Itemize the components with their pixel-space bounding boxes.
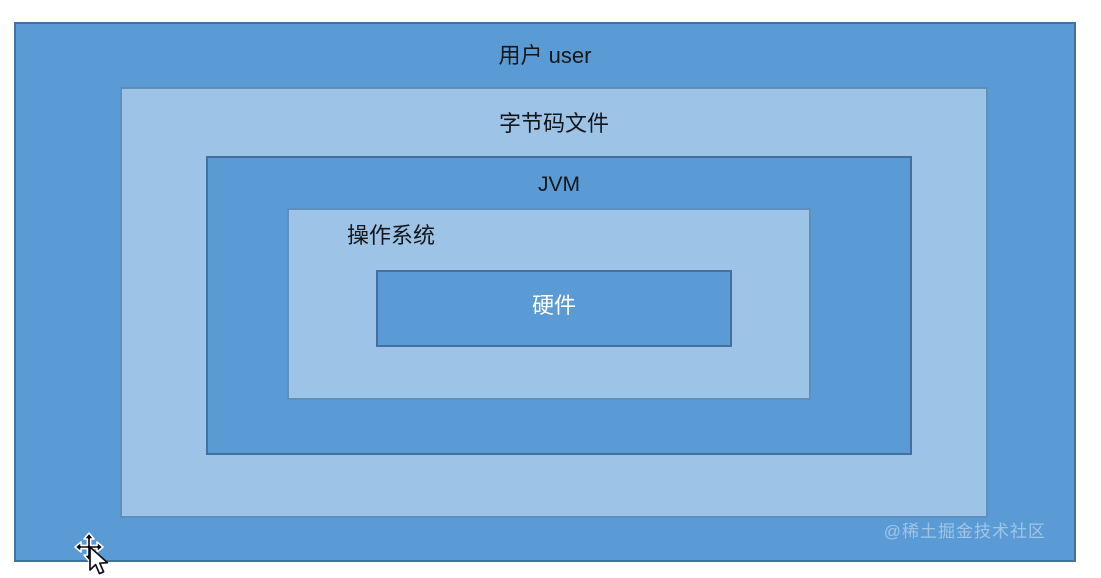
layer-label-os: 操作系统 (289, 224, 809, 248)
diagram-canvas: 用户 user 字节码文件 JVM 操作系统 硬件 @稀土掘金技术社区 (0, 0, 1101, 578)
layer-label-user: 用户 user (16, 44, 1074, 68)
layer-label-jvm: JVM (208, 173, 910, 196)
watermark-text: @稀土掘金技术社区 (884, 517, 1046, 542)
layer-box-jvm[interactable]: JVM 操作系统 硬件 (206, 156, 912, 455)
layer-box-user[interactable]: 用户 user 字节码文件 JVM 操作系统 硬件 @稀土掘金技术社区 (14, 22, 1076, 562)
layer-box-hardware[interactable]: 硬件 (376, 270, 732, 347)
layer-box-os[interactable]: 操作系统 硬件 (287, 208, 811, 400)
layer-label-bytecode: 字节码文件 (122, 112, 986, 136)
layer-label-hardware: 硬件 (378, 294, 730, 318)
layer-box-bytecode[interactable]: 字节码文件 JVM 操作系统 硬件 (120, 87, 988, 518)
